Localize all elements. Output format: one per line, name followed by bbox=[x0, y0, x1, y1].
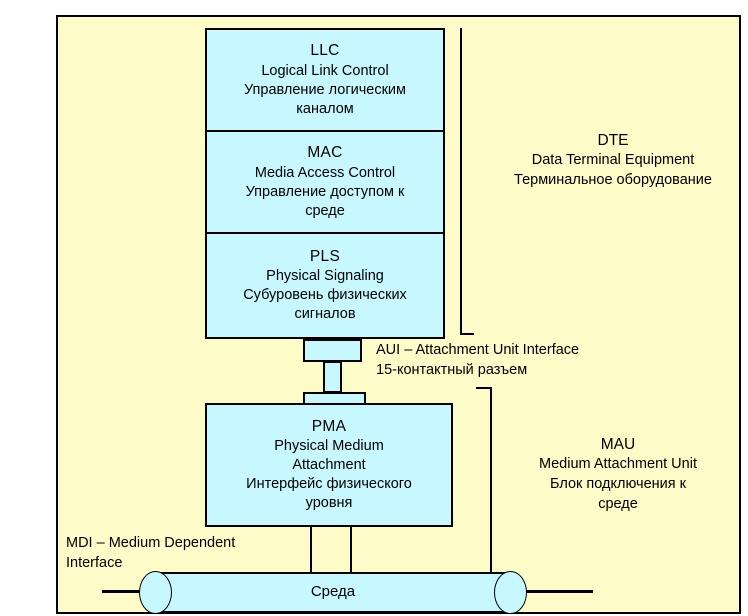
layer-mac-russian-line2: среде bbox=[305, 202, 345, 221]
label-mdi-line1: MDI – Medium Dependent bbox=[66, 533, 306, 553]
layer-pma-abbr: PMA bbox=[312, 417, 347, 437]
note-mau-english: Medium Attachment Unit bbox=[498, 455, 738, 475]
layer-pma-russian-line1: Интерфейс физического bbox=[246, 475, 412, 494]
layer-box-mac: MAC Media Access Control Управление дост… bbox=[205, 130, 445, 234]
note-dte-russian: Терминальное оборудование bbox=[488, 171, 738, 191]
medium-cylinder: Среда bbox=[138, 569, 528, 616]
layer-mac-abbr: MAC bbox=[307, 143, 342, 163]
layer-box-pma: PMA Physical Medium Attachment Интерфейс… bbox=[205, 403, 453, 527]
layer-llc-abbr: LLC bbox=[310, 41, 339, 61]
layer-pma-russian-line2: уровня bbox=[306, 494, 353, 513]
layer-box-pls: PLS Physical Signaling Субуровень физиче… bbox=[205, 232, 445, 339]
label-mdi: MDI – Medium Dependent Interface bbox=[66, 533, 306, 573]
note-dte-english: Data Terminal Equipment bbox=[488, 151, 738, 171]
label-aui-line2: 15-контактный разъем bbox=[376, 360, 676, 380]
note-mau-abbr: MAU bbox=[498, 434, 738, 455]
layer-mac-russian-line1: Управление доступом к bbox=[246, 183, 405, 202]
label-aui-line1: AUI – Attachment Unit Interface bbox=[376, 340, 676, 360]
layer-pls-abbr: PLS bbox=[310, 247, 340, 267]
note-dte-abbr: DTE bbox=[488, 130, 738, 151]
note-mau-russian-line1: Блок подключения к bbox=[498, 475, 738, 495]
layer-pma-english-line2: Attachment bbox=[292, 456, 365, 475]
note-dte: DTE Data Terminal Equipment Терминальное… bbox=[488, 130, 738, 191]
layer-llc-russian-line2: каналом bbox=[296, 100, 353, 119]
dte-bracket bbox=[460, 28, 474, 335]
note-mau: MAU Medium Attachment Unit Блок подключе… bbox=[498, 434, 738, 514]
layer-pls-english: Physical Signaling bbox=[266, 267, 384, 286]
layer-pls-russian-line2: сигналов bbox=[294, 305, 355, 324]
diagram-panel: LLC Logical Link Control Управление логи… bbox=[56, 15, 741, 614]
layer-llc-russian-line1: Управление логическим bbox=[244, 81, 406, 100]
aui-connector-upper-plug bbox=[303, 339, 362, 362]
medium-label: Среда bbox=[138, 583, 528, 600]
layer-pls-russian-line1: Субуровень физических bbox=[243, 286, 407, 305]
layer-llc-english: Logical Link Control bbox=[261, 62, 388, 81]
note-mau-russian-line2: среде bbox=[498, 495, 738, 515]
mau-bracket bbox=[476, 387, 492, 583]
layer-box-llc: LLC Logical Link Control Управление логи… bbox=[205, 28, 445, 132]
layer-pma-english-line1: Physical Medium bbox=[274, 437, 384, 456]
label-aui: AUI – Attachment Unit Interface 15-конта… bbox=[376, 340, 676, 380]
aui-connector-cable bbox=[323, 361, 342, 393]
layer-mac-english: Media Access Control bbox=[255, 164, 395, 183]
